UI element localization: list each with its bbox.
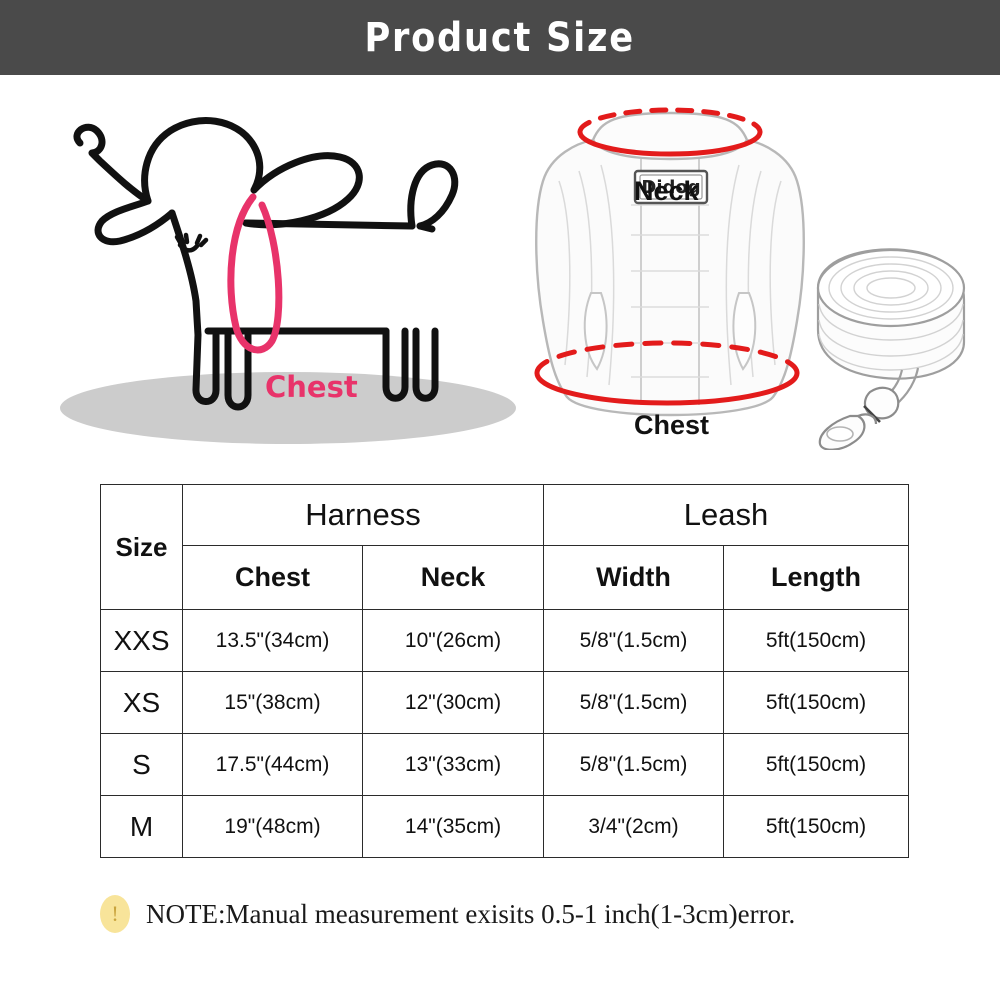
dog-outline-drawing xyxy=(40,95,540,470)
cell-chest: 15"(38cm) xyxy=(183,672,363,734)
cell-chest: 19"(48cm) xyxy=(183,796,363,858)
cell-width: 5/8"(1.5cm) xyxy=(544,672,724,734)
page-header-bar: Product Size xyxy=(0,0,1000,75)
table-row: XXS 13.5"(34cm) 10"(26cm) 5/8"(1.5cm) 5f… xyxy=(101,610,909,672)
table-row: S 17.5"(44cm) 13"(33cm) 5/8"(1.5cm) 5ft(… xyxy=(101,734,909,796)
column-header-neck: Neck xyxy=(363,546,544,610)
cell-width: 5/8"(1.5cm) xyxy=(544,610,724,672)
cell-width: 3/4"(2cm) xyxy=(544,796,724,858)
coiled-leash-with-snap-hook xyxy=(798,230,978,450)
column-header-size: Size xyxy=(101,485,183,610)
harness-chest-label: Chest xyxy=(634,410,709,441)
cell-size: XXS xyxy=(101,610,183,672)
note-text: NOTE:Manual measurement exisits 0.5-1 in… xyxy=(146,899,795,930)
cell-neck: 13"(33cm) xyxy=(363,734,544,796)
column-header-width: Width xyxy=(544,546,724,610)
harness-neck-label: Neck xyxy=(634,176,699,207)
cell-width: 5/8"(1.5cm) xyxy=(544,734,724,796)
table-row: M 19"(48cm) 14"(35cm) 3/4"(2cm) 5ft(150c… xyxy=(101,796,909,858)
table-header-row-groups: Size Harness Leash xyxy=(101,485,909,546)
column-header-chest: Chest xyxy=(183,546,363,610)
measurement-note: ! NOTE:Manual measurement exisits 0.5-1 … xyxy=(100,888,920,940)
page-title: Product Size xyxy=(365,15,635,61)
table-header-row-columns: Chest Neck Width Length xyxy=(101,546,909,610)
column-group-harness: Harness xyxy=(183,485,544,546)
cell-chest: 17.5"(44cm) xyxy=(183,734,363,796)
cell-neck: 12"(30cm) xyxy=(363,672,544,734)
cell-neck: 10"(26cm) xyxy=(363,610,544,672)
illustration-band: Chest Didog xyxy=(0,75,1000,470)
cell-size: S xyxy=(101,734,183,796)
size-chart-table: Size Harness Leash Chest Neck Width Leng… xyxy=(100,484,909,858)
exclamation-icon: ! xyxy=(100,895,130,933)
table-row: XS 15"(38cm) 12"(30cm) 5/8"(1.5cm) 5ft(1… xyxy=(101,672,909,734)
cell-chest: 13.5"(34cm) xyxy=(183,610,363,672)
dog-harness-vest: Didog xyxy=(505,85,835,455)
cell-neck: 14"(35cm) xyxy=(363,796,544,858)
cell-length: 5ft(150cm) xyxy=(724,734,909,796)
dog-chest-label: Chest xyxy=(265,370,358,404)
exclamation-icon-glyph: ! xyxy=(111,903,118,925)
cell-length: 5ft(150cm) xyxy=(724,610,909,672)
cell-size: M xyxy=(101,796,183,858)
column-group-leash: Leash xyxy=(544,485,909,546)
column-header-length: Length xyxy=(724,546,909,610)
cell-size: XS xyxy=(101,672,183,734)
cell-length: 5ft(150cm) xyxy=(724,672,909,734)
cell-length: 5ft(150cm) xyxy=(724,796,909,858)
